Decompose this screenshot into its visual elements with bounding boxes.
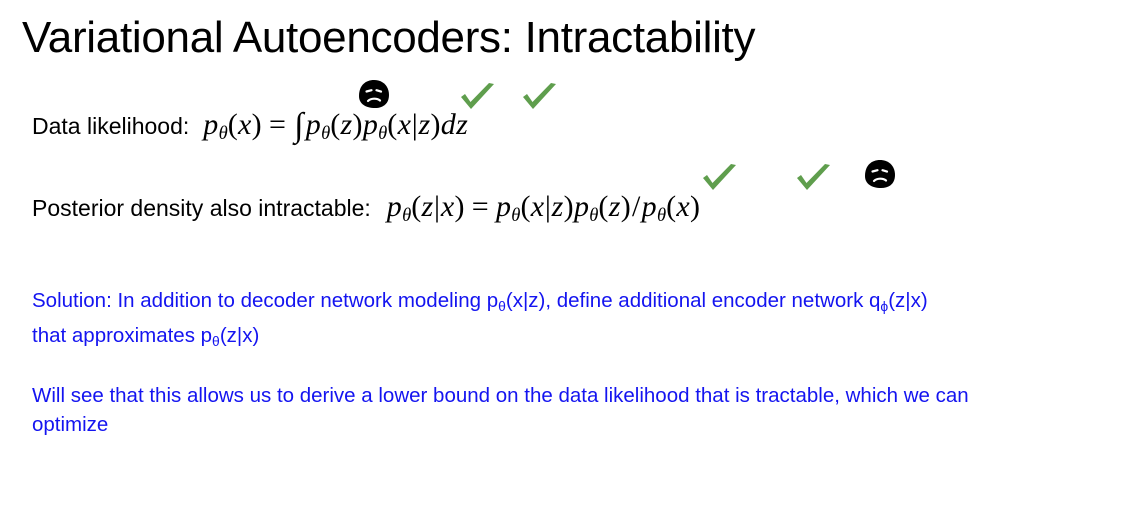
eq1-sub2: θ — [321, 123, 330, 144]
eq2-equals: = — [465, 190, 496, 223]
solution-paragraph: Solution: In addition to decoder network… — [32, 286, 962, 356]
sad-face-blob-icon — [353, 78, 393, 110]
eq2-rparen2: ) — [564, 190, 574, 223]
eq2-lparen4: ( — [666, 190, 676, 223]
solution-sub-theta-2: θ — [212, 333, 220, 349]
eq2-lparen1: ( — [411, 190, 421, 223]
eq1-equals: = — [262, 108, 293, 141]
eq2-p3: p — [574, 190, 589, 223]
eq2-slash: / — [631, 190, 642, 223]
eq1-p1: p — [203, 108, 218, 141]
solution-part1: Solution: In addition to decoder network… — [32, 289, 498, 312]
posterior-density-label: Posterior density also intractable: — [32, 193, 371, 223]
eq2-sub4: θ — [657, 205, 666, 226]
eq1-lparen2: ( — [330, 108, 340, 141]
tractable-paragraph: Will see that this allows us to derive a… — [32, 381, 992, 439]
integral-symbol: ∫ — [293, 107, 306, 144]
eq2-p4: p — [642, 190, 657, 223]
posterior-density-row: Posterior density also intractable: pθ(z… — [32, 190, 700, 233]
posterior-density-equation: pθ(z|x)=pθ(x|z)pθ(z)/pθ(x) — [387, 190, 701, 233]
eq1-rparen2: ) — [353, 108, 363, 141]
eq2-p1: p — [387, 190, 402, 223]
eq1-rparen1: ) — [252, 108, 262, 141]
eq2-rparen3: ) — [621, 190, 631, 223]
eq2-x1: x — [441, 190, 455, 223]
data-likelihood-row: Data likelihood: pθ(x)=∫pθ(z)pθ(x|z)dz — [32, 107, 468, 151]
eq2-rparen1: ) — [454, 190, 464, 223]
solution-part4: (z|x) — [220, 324, 259, 347]
green-check-mark-icon — [700, 163, 740, 195]
solution-sub-theta-1: θ — [498, 298, 506, 314]
eq1-lparen3: ( — [387, 108, 397, 141]
eq1-p2: p — [306, 108, 321, 141]
eq1-p3: p — [363, 108, 378, 141]
solution-part2: (x|z), define additional encoder network… — [506, 289, 881, 312]
eq2-bar2: | — [544, 190, 551, 223]
eq2-sub1: θ — [402, 205, 411, 226]
eq2-p2: p — [496, 190, 511, 223]
eq1-x1: x — [238, 108, 252, 141]
eq2-lparen2: ( — [520, 190, 530, 223]
green-check-mark-icon — [520, 82, 560, 114]
eq2-x3: x — [676, 190, 690, 223]
eq2-x2: x — [531, 190, 545, 223]
eq1-dz: dz — [441, 108, 468, 141]
eq2-bar1: | — [434, 190, 441, 223]
green-check-mark-icon — [794, 163, 834, 195]
eq2-lparen3: ( — [598, 190, 608, 223]
data-likelihood-label: Data likelihood: — [32, 111, 189, 141]
eq2-z1: z — [422, 190, 434, 223]
eq1-x2: x — [398, 108, 412, 141]
eq2-z2: z — [552, 190, 564, 223]
eq1-z1: z — [341, 108, 353, 141]
slide-canvas: Variational Autoencoders: Intractability… — [0, 0, 1127, 529]
eq2-rparen4: ) — [690, 190, 700, 223]
eq1-sub3: θ — [378, 123, 387, 144]
page-title: Variational Autoencoders: Intractability — [22, 12, 755, 64]
eq1-sub1: θ — [219, 123, 228, 144]
data-likelihood-equation: pθ(x)=∫pθ(z)pθ(x|z)dz — [203, 107, 468, 151]
eq1-z2: z — [419, 108, 431, 141]
eq1-bar1: | — [411, 108, 418, 141]
eq1-rparen3: ) — [431, 108, 441, 141]
eq1-lparen1: ( — [228, 108, 238, 141]
eq2-z3: z — [609, 190, 621, 223]
sad-face-blob-icon — [859, 158, 899, 190]
